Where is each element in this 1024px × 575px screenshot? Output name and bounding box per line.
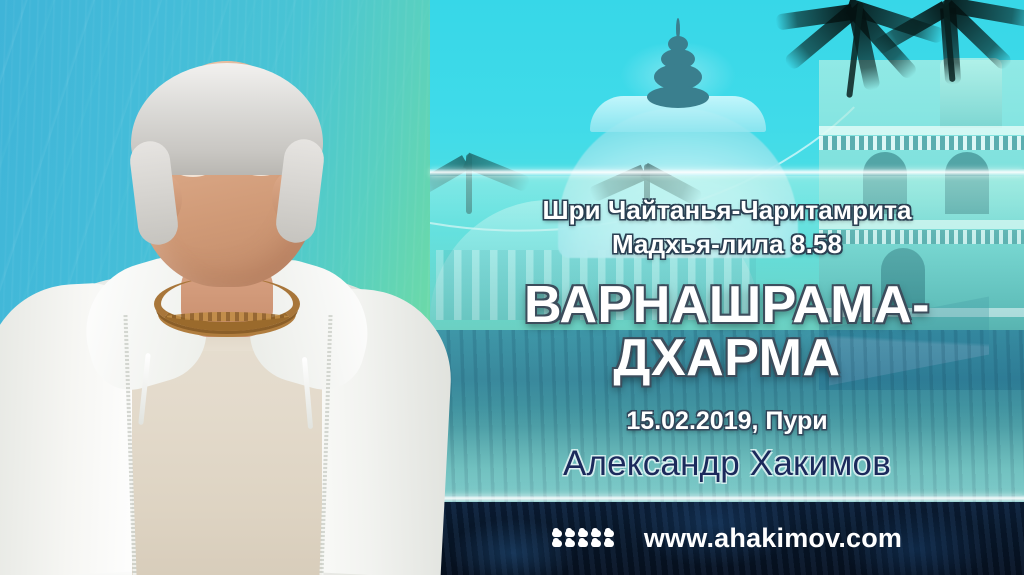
main-title-line-1: ВАРНАШРАМА- bbox=[524, 276, 930, 334]
footer-bar: www.ahakimov.com bbox=[430, 502, 1024, 575]
face-group bbox=[136, 0, 318, 575]
divider-top bbox=[430, 169, 1024, 176]
main-title-line-2: ДХАРМА bbox=[524, 332, 930, 385]
temple-spire-icon bbox=[626, 18, 730, 114]
poster-canvas: Шри Чайтанья-Чаритамрита Мадхья-лила 8.5… bbox=[0, 0, 1024, 575]
main-title: ВАРНАШРАМА- ДХАРМА bbox=[524, 279, 930, 385]
website-url[interactable]: www.ahakimov.com bbox=[644, 523, 902, 554]
divider-bottom bbox=[430, 495, 1024, 502]
scripture-line-1: Шри Чайтанья-Чаритамрита bbox=[542, 194, 911, 227]
dots-grid-logo-icon bbox=[552, 530, 614, 547]
speaker-portrait bbox=[0, 0, 462, 575]
palm-tree-icon bbox=[930, 0, 1024, 140]
speaker-name: Александр Хакимов bbox=[563, 444, 891, 484]
title-block: Шри Чайтанья-Чаритамрита Мадхья-лила 8.5… bbox=[430, 176, 1024, 495]
date-location: 15.02.2019, Пури bbox=[626, 407, 827, 436]
scripture-line-2: Мадхья-лила 8.58 bbox=[612, 228, 842, 261]
